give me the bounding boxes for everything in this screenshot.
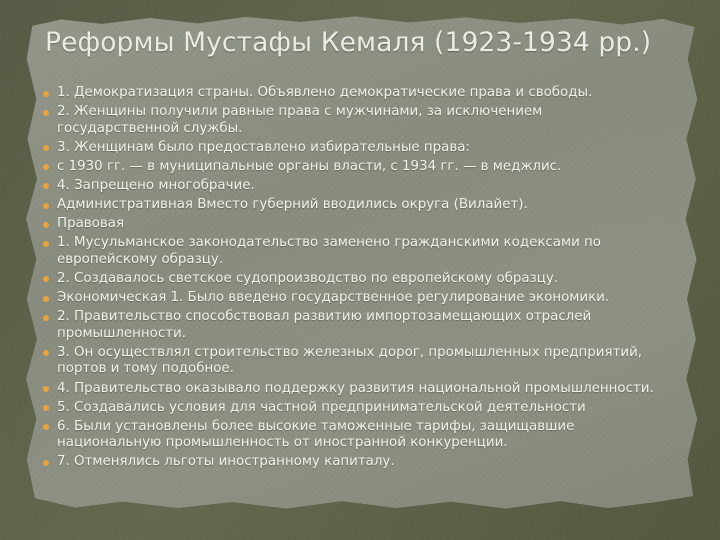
bullet-dot-icon: [43, 164, 49, 170]
bullet-dot-icon: [43, 276, 49, 282]
bullet-text: 6. Были установлены более высокие таможе…: [57, 419, 665, 452]
bullet-text: 2. Правительство способствовал развитию …: [57, 309, 665, 342]
bullet-text: с 1930 гг. — в муниципальные органы влас…: [57, 159, 665, 176]
bullet-item: 7. Отменялись льготы иностранному капита…: [40, 454, 665, 471]
bullet-dot-icon: [43, 145, 49, 151]
bullet-item: Административная Вместо губерний вводили…: [40, 197, 665, 214]
bullet-text: Правовая: [57, 216, 665, 233]
bullet-dot-icon: [43, 386, 49, 392]
bullet-item: 2. Создавалось светское судопроизводство…: [40, 271, 665, 288]
bullet-dot-icon: [43, 222, 49, 228]
bullet-item: 3. Он осуществлял строительство железных…: [40, 345, 665, 378]
bullet-text: 5. Создавались условия для частной предп…: [57, 400, 665, 417]
bullet-item: 2. Правительство способствовал развитию …: [40, 309, 665, 342]
bullet-text: 3. Он осуществлял строительство железных…: [57, 345, 665, 378]
bullet-item: 4. Правительство оказывало поддержку раз…: [40, 381, 665, 398]
slide-content: Реформы Мустафы Кемаля (1923-1934 рр.) 1…: [0, 0, 720, 540]
bullet-text: 1. Мусульманское законодательство замене…: [57, 235, 665, 268]
slide-title: Реформы Мустафы Кемаля (1923-1934 рр.): [45, 28, 695, 58]
bullet-dot-icon: [43, 405, 49, 411]
bullet-list: 1. Демократизация страны. Объявлено демо…: [40, 85, 665, 473]
bullet-dot-icon: [43, 296, 49, 302]
bullet-text: 3. Женщинам было предоставлено избирател…: [57, 140, 665, 157]
bullet-item: Экономическая 1. Было введено государств…: [40, 290, 665, 307]
bullet-item: 6. Были установлены более высокие таможе…: [40, 419, 665, 452]
bullet-dot-icon: [43, 110, 49, 116]
bullet-text: 4. Правительство оказывало поддержку раз…: [57, 381, 665, 398]
bullet-dot-icon: [43, 241, 49, 247]
bullet-text: Экономическая 1. Было введено государств…: [57, 290, 665, 307]
bullet-item: Правовая: [40, 216, 665, 233]
bullet-text: 4. Запрещено многобрачие.: [57, 178, 665, 195]
bullet-item: 5. Создавались условия для частной предп…: [40, 400, 665, 417]
bullet-dot-icon: [43, 460, 49, 466]
bullet-text: 7. Отменялись льготы иностранному капита…: [57, 454, 665, 471]
bullet-dot-icon: [43, 424, 49, 430]
bullet-dot-icon: [43, 315, 49, 321]
bullet-item: 2. Женщины получили равные права с мужчи…: [40, 104, 665, 137]
bullet-dot-icon: [43, 91, 49, 97]
bullet-item: 1. Мусульманское законодательство замене…: [40, 235, 665, 268]
bullet-dot-icon: [43, 183, 49, 189]
presentation-slide: Реформы Мустафы Кемаля (1923-1934 рр.) 1…: [0, 0, 720, 540]
bullet-item: 4. Запрещено многобрачие.: [40, 178, 665, 195]
bullet-text: 2. Создавалось светское судопроизводство…: [57, 271, 665, 288]
bullet-item: 1. Демократизация страны. Объявлено демо…: [40, 85, 665, 102]
bullet-dot-icon: [43, 350, 49, 356]
bullet-item: с 1930 гг. — в муниципальные органы влас…: [40, 159, 665, 176]
bullet-text: Административная Вместо губерний вводили…: [57, 197, 665, 214]
bullet-text: 1. Демократизация страны. Объявлено демо…: [57, 85, 665, 102]
bullet-dot-icon: [43, 203, 49, 209]
bullet-text: 2. Женщины получили равные права с мужчи…: [57, 104, 665, 137]
bullet-item: 3. Женщинам было предоставлено избирател…: [40, 140, 665, 157]
